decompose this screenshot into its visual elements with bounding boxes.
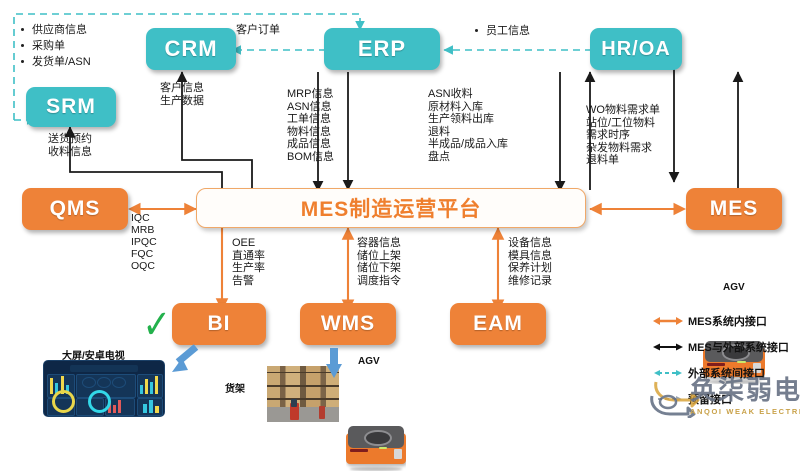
node-wms-label: WMS xyxy=(321,312,375,336)
node-crm[interactable]: CRM xyxy=(146,28,236,70)
node-srm[interactable]: SRM xyxy=(26,87,116,127)
bullet-item: 采购单 xyxy=(18,38,158,54)
double-arrow-black-icon xyxy=(648,341,688,353)
bullet-item: 供应商信息 xyxy=(18,22,158,38)
label-hroa-side: WO物料需求单 站位/工位物料 需求时序 杂发物料需求 退料单 xyxy=(586,104,660,167)
dashboard-tv-image xyxy=(43,360,165,417)
label-qms-side: IQC MRB IPQC FQC OQC xyxy=(131,212,157,272)
shelf-caption: 货架 xyxy=(225,380,245,395)
node-erp-label: ERP xyxy=(358,36,406,62)
node-erp[interactable]: ERP xyxy=(324,28,440,70)
mes-platform[interactable]: MES制造运营平台 xyxy=(196,188,586,228)
node-bi-label: BI xyxy=(208,312,231,336)
label-bi-side: OEE 直通率 生产率 告警 xyxy=(232,237,265,287)
bullet-item: 发货单/ASN xyxy=(18,54,158,70)
node-eam-label: EAM xyxy=(473,312,523,336)
mes-platform-label: MES制造运营平台 xyxy=(301,193,482,223)
label-erp-up: ASN收料 原材料入库 生产领料出库 退料 半成品/成品入库 盘点 xyxy=(428,88,508,164)
legend-label: MES与外部系统接口 xyxy=(688,339,789,355)
node-srm-label: SRM xyxy=(46,95,96,119)
legend-row: MES与外部系统接口 xyxy=(648,336,789,357)
check-icon: ✓ xyxy=(143,305,171,345)
node-eam[interactable]: EAM xyxy=(450,303,546,345)
supplier-bullets: 供应商信息 采购单 发货单/ASN xyxy=(18,22,158,70)
node-hroa[interactable]: HR/OA xyxy=(590,28,682,70)
node-mes-right-label: MES xyxy=(710,197,759,221)
watermark-logo-icon xyxy=(648,368,710,418)
bullet-item: 员工信息 xyxy=(472,23,602,39)
legend-label: MES系统内接口 xyxy=(688,313,767,329)
node-hroa-label: HR/OA xyxy=(601,38,670,61)
label-crm-to-mes: 客户信息 生产数据 xyxy=(160,82,204,107)
agv-mes-caption: AGV xyxy=(723,282,745,293)
double-arrow-orange-icon xyxy=(648,315,688,327)
label-customer-order: 客户订单 xyxy=(236,24,280,37)
warehouse-shelf-image xyxy=(267,366,339,422)
node-mes-right[interactable]: MES xyxy=(686,188,782,230)
diagram-canvas: CRM ERP HR/OA SRM QMS MES BI WMS EAM MES… xyxy=(0,0,800,423)
agv-wms-caption: AGV xyxy=(358,356,380,367)
node-wms[interactable]: WMS xyxy=(300,303,396,345)
label-eam-side: 设备信息 模具信息 保养计划 维修记录 xyxy=(508,237,552,287)
agv-wms-image xyxy=(346,425,406,471)
legend-row: MES系统内接口 xyxy=(648,310,789,331)
node-crm-label: CRM xyxy=(164,36,217,62)
label-srm-to-mes: 送货预约 收料信息 xyxy=(48,133,92,158)
employee-bullets: 员工信息 xyxy=(472,23,602,39)
node-qms-label: QMS xyxy=(50,197,101,221)
node-qms[interactable]: QMS xyxy=(22,188,128,230)
label-erp-down: MRP信息 ASN信息 工单信息 物料信息 成品信息 BOM信息 xyxy=(287,88,334,164)
label-wms-side: 容器信息 储位上架 储位下架 调度指令 xyxy=(357,237,401,287)
node-bi[interactable]: BI xyxy=(172,303,266,345)
